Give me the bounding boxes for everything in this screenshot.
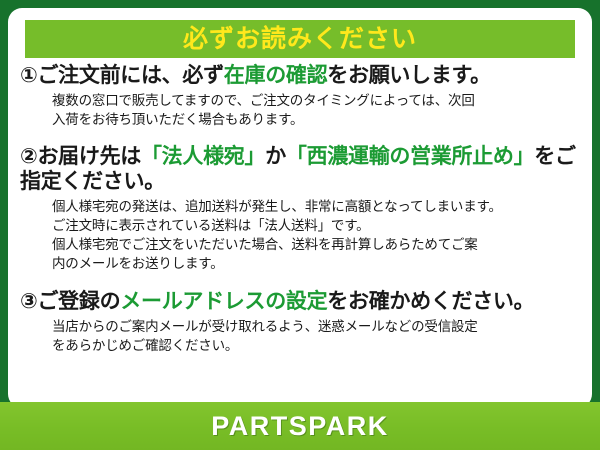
notice-item-2-sub-line-2: ご注文時に表示されている送料は「法人送料」です。: [52, 216, 582, 235]
item-1-marker: ①: [20, 64, 37, 87]
notice-card: 必ずお読みください ①ご注文前には、必ず在庫の確認をお願いします。 複数の窓口で…: [0, 0, 600, 450]
item-2-highlight-2: 「西濃運輸の営業所止め」: [286, 145, 534, 168]
notice-item-3-sub-line-1: 当店からのご案内メールが受け取れるよう、迷惑メールなどの受信設定: [52, 317, 582, 336]
item-2-part-3: か: [265, 145, 286, 168]
item-3-part-3: をお確かめください。: [327, 290, 534, 313]
item-1-highlight: 在庫の確認: [224, 64, 328, 87]
item-3-highlight: メールアドレスの設定: [120, 290, 327, 313]
notice-panel: 必ずお読みください ①ご注文前には、必ず在庫の確認をお願いします。 複数の窓口で…: [8, 8, 592, 408]
notice-item-1: ①ご注文前には、必ず在庫の確認をお願いします。 複数の窓口で販売してますので、ご…: [8, 64, 592, 129]
notice-item-2: ②お届け先は「法人様宛」か「西濃運輸の営業所止め」をご指定ください。 個人様宅宛…: [8, 145, 592, 273]
notice-item-2-heading: ②お届け先は「法人様宛」か「西濃運輸の営業所止め」をご指定ください。: [20, 145, 582, 195]
item-3-marker: ③: [20, 290, 37, 313]
notice-item-list: ①ご注文前には、必ず在庫の確認をお願いします。 複数の窓口で販売してますので、ご…: [8, 64, 592, 355]
notice-item-2-sub-line-3: 個人様宅宛でご注文をいただいた場合、送料を再計算しあらためてご案: [52, 235, 582, 254]
notice-item-2-sub-line-4: 内のメールをお送りします。: [52, 254, 582, 273]
title-banner: 必ずお読みください: [25, 20, 575, 58]
banner-title: 必ずお読みください: [183, 27, 417, 52]
notice-item-3-sub-line-2: をあらかじめご確認ください。: [52, 336, 582, 355]
item-2-highlight-1: 「法人様宛」: [141, 145, 265, 168]
footer-brand-band: PARTSPARK: [0, 402, 600, 450]
brand-logo-text: PARTSPARK: [211, 411, 389, 442]
item-1-part-1: ご注文前には、必ず: [37, 64, 223, 87]
item-2-part-1: お届け先は: [37, 145, 141, 168]
item-1-part-3: をお願いします。: [327, 64, 491, 87]
item-2-marker: ②: [20, 145, 37, 168]
notice-item-2-sub-line-1: 個人様宅宛の発送は、追加送料が発生し、非常に高額となってしまいます。: [52, 197, 582, 216]
notice-item-1-sub-line-1: 複数の窓口で販売してますので、ご注文のタイミングによっては、次回: [52, 91, 582, 110]
notice-item-1-sub-line-2: 入荷をお待ち頂いただく場合もあります。: [52, 110, 582, 129]
notice-item-1-heading: ①ご注文前には、必ず在庫の確認をお願いします。: [20, 64, 582, 89]
notice-item-3: ③ご登録のメールアドレスの設定をお確かめください。 当店からのご案内メールが受け…: [8, 290, 592, 355]
notice-item-3-heading: ③ご登録のメールアドレスの設定をお確かめください。: [20, 290, 582, 315]
item-3-part-1: ご登録の: [37, 290, 120, 313]
